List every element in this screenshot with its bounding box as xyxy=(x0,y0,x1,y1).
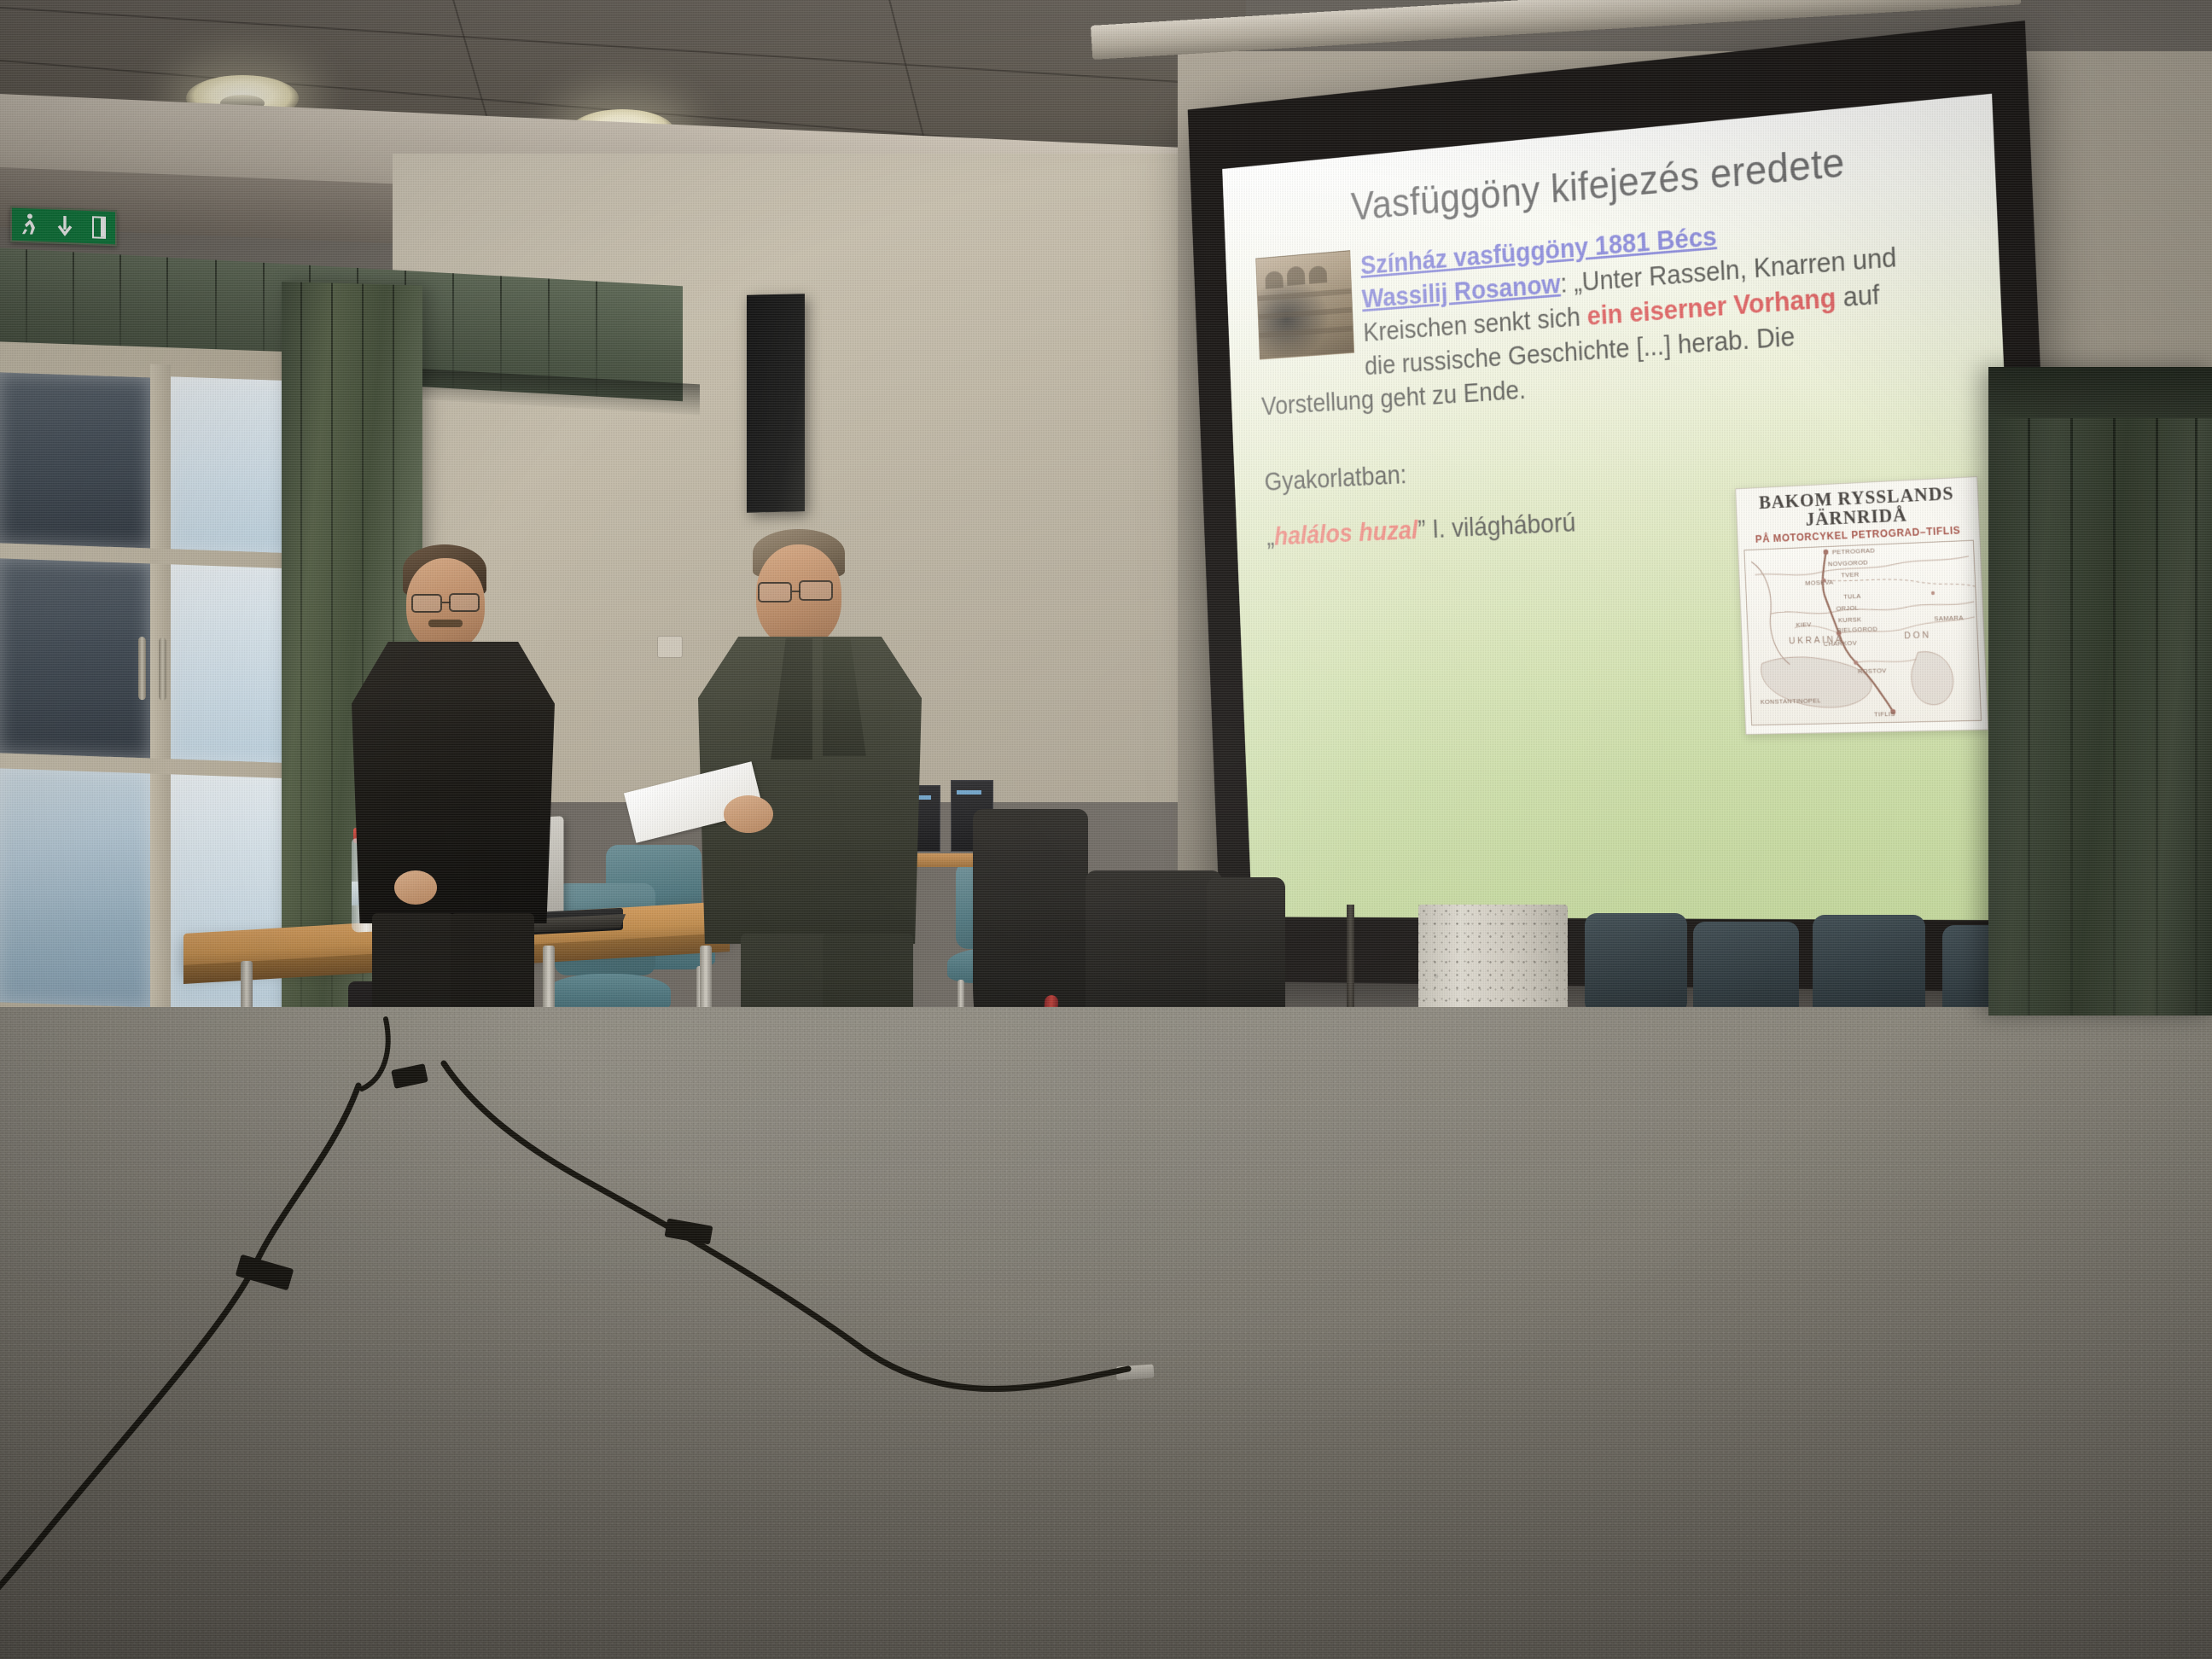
map-city-orjol: ORJOL xyxy=(1836,604,1859,613)
slide-surface: Vasfüggöny kifejezés eredete Színház vas… xyxy=(1222,94,2029,921)
map-body: PETROGRAD NOVGOROD MOSKVA TVER TULA ORJO… xyxy=(1743,540,1982,726)
theater-interior-photo xyxy=(1255,250,1354,359)
map-clipping: BAKOM RYSSLANDS JÄRNRIDÅ PÅ MOTORCYKEL P… xyxy=(1735,476,1988,735)
wall-socket xyxy=(657,636,683,658)
exit-door-icon xyxy=(91,215,107,240)
slide-practice-rest: I. világháború xyxy=(1425,507,1576,544)
door-handle[interactable] xyxy=(138,637,146,700)
emergency-exit-sign xyxy=(10,207,117,247)
map-city-konstantinopel: KONSTANTINOPEL xyxy=(1761,696,1822,705)
hand xyxy=(724,795,773,833)
map-city-moskva: MOSKVA xyxy=(1805,579,1834,587)
map-city-rostov: ROSTOV xyxy=(1858,667,1887,675)
mustache xyxy=(428,620,463,627)
door-glass-lower-left xyxy=(0,766,150,1007)
door-glass-upper-left xyxy=(0,372,150,548)
window-curtain-right xyxy=(1988,367,2212,1016)
door-handle[interactable] xyxy=(159,637,166,701)
map-city-bielgorod: BIELGOROD xyxy=(1837,625,1877,633)
glass-entrance-doors[interactable] xyxy=(0,341,329,1027)
curtain-heading-band xyxy=(1988,367,2212,418)
map-city-tiflis: TIFLIS xyxy=(1874,710,1895,718)
glasses xyxy=(411,594,442,613)
map-city-kiev: KIEV xyxy=(1796,620,1812,628)
wall-speaker xyxy=(747,294,805,512)
projection-screen: Vasfüggöny kifejezés eredete Színház vas… xyxy=(1082,19,2046,992)
down-arrow-icon xyxy=(55,215,74,238)
hand xyxy=(394,870,437,905)
floor-power-socket[interactable] xyxy=(1115,1364,1154,1380)
carpet-floor xyxy=(0,1007,2212,1659)
slide-practice-emphasis: halálos huzal xyxy=(1273,515,1418,551)
slide-quote-l2-post: auf xyxy=(1835,278,1880,312)
running-man-icon xyxy=(20,212,39,237)
glasses-bridge xyxy=(442,602,451,603)
glasses-bridge xyxy=(792,591,800,592)
map-region-ukraina: UKRAINA xyxy=(1789,635,1844,647)
door-glass-mid-left xyxy=(0,556,150,758)
map-city-novgorod: NOVGOROD xyxy=(1828,559,1868,568)
map-city-tver: TVER xyxy=(1841,571,1860,579)
glasses xyxy=(449,593,480,612)
map-region-don: DON xyxy=(1904,630,1931,641)
map-city-tula: TULA xyxy=(1843,592,1861,601)
map-city-samara: SAMARA xyxy=(1934,614,1964,622)
conference-room-photo: Vasfüggöny kifejezés eredete Színház vas… xyxy=(0,0,2212,1659)
glasses xyxy=(758,582,792,602)
glasses xyxy=(799,580,833,601)
map-city-kursk: KURSK xyxy=(1838,615,1862,624)
